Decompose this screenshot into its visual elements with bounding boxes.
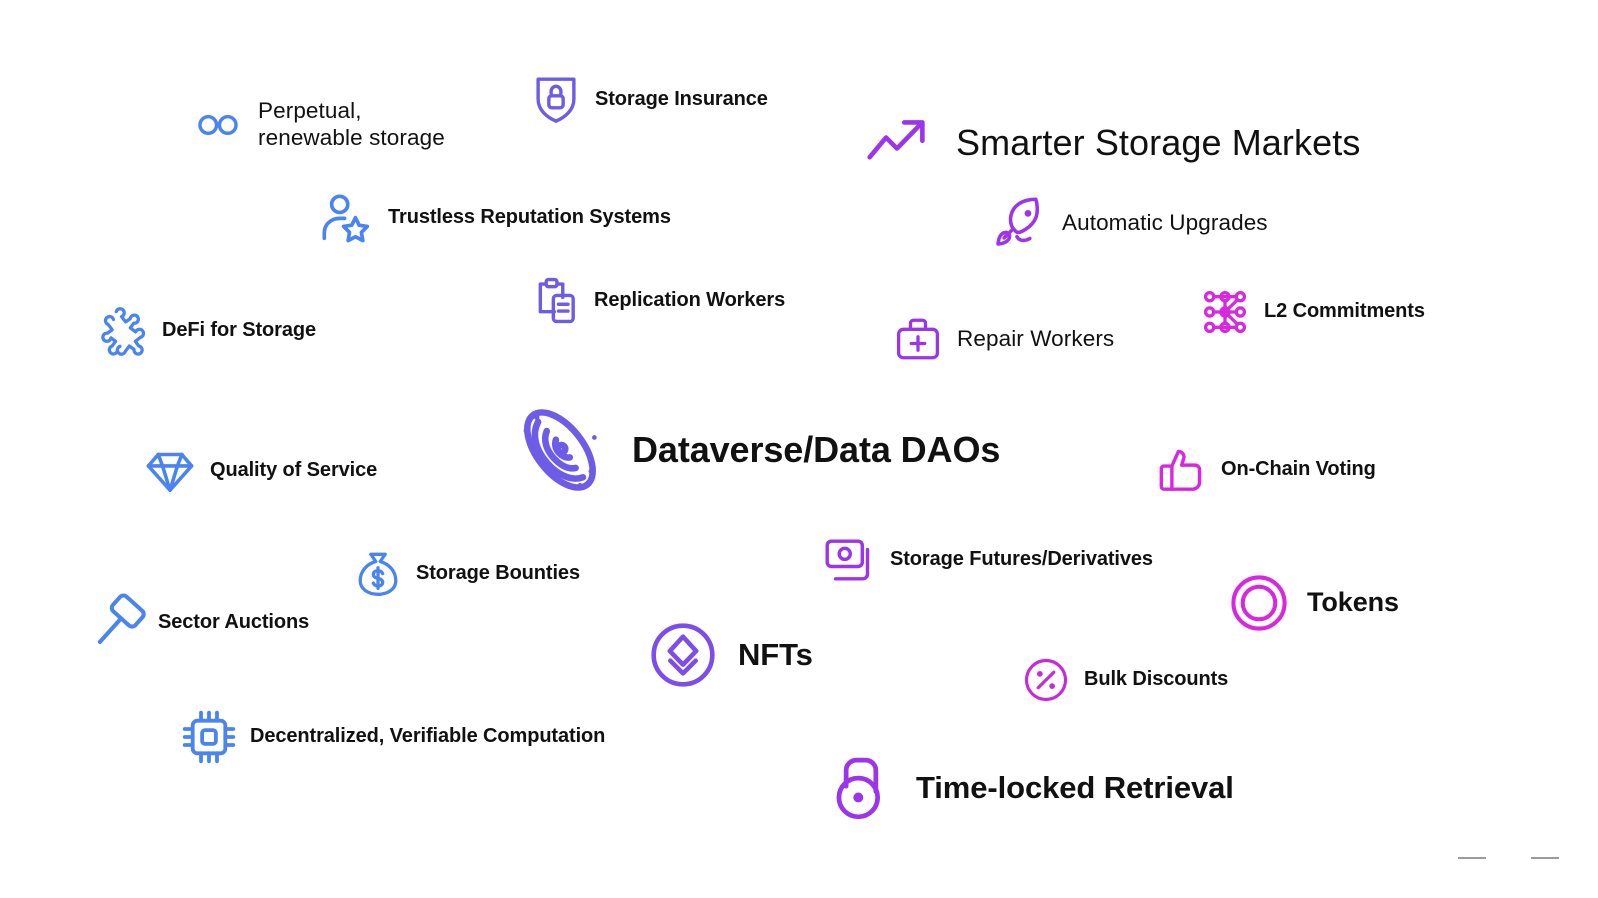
padlock-icon bbox=[825, 752, 897, 824]
concept-item-quality-of-service[interactable]: Quality of Service bbox=[143, 444, 377, 498]
double-ring-icon bbox=[1228, 572, 1290, 634]
concept-item-storage-bounties[interactable]: Storage Bounties bbox=[353, 549, 580, 599]
concept-item-label: Replication Workers bbox=[594, 289, 785, 313]
concept-item-label: Time-locked Retrieval bbox=[916, 770, 1234, 807]
concept-item-label: Sector Auctions bbox=[158, 611, 309, 635]
concept-item-bulk-discounts[interactable]: Bulk Discounts bbox=[1022, 656, 1228, 704]
concept-item-label: Bulk Discounts bbox=[1084, 668, 1228, 692]
concept-item-repair-workers[interactable]: Repair Workers bbox=[893, 314, 1114, 364]
concept-item-label: Automatic Upgrades bbox=[1062, 210, 1268, 237]
percent-circle-icon bbox=[1022, 656, 1070, 704]
concept-item-dataverse-data-daos[interactable]: Dataverse/Data DAOs bbox=[510, 400, 1000, 500]
concept-item-l2-commitments[interactable]: L2 Commitments bbox=[1200, 287, 1425, 337]
concept-item-defi-for-storage[interactable]: DeFi for Storage bbox=[100, 306, 316, 356]
dash-mark bbox=[1458, 857, 1486, 859]
concept-item-storage-futures-derivatives[interactable]: Storage Futures/Derivatives bbox=[822, 534, 1153, 586]
gavel-icon bbox=[86, 592, 148, 654]
concept-item-sector-auctions[interactable]: Sector Auctions bbox=[86, 592, 309, 654]
concept-item-label: Quality of Service bbox=[210, 459, 377, 483]
concept-item-label: On-Chain Voting bbox=[1221, 458, 1376, 482]
trend-up-arrow-icon bbox=[862, 108, 932, 178]
ethereum-coin-icon bbox=[648, 620, 718, 690]
concept-item-label: Storage Bounties bbox=[416, 562, 580, 586]
concept-item-decentralized-verifiable-computation[interactable]: Decentralized, Verifiable Computation bbox=[180, 708, 605, 766]
user-star-icon bbox=[318, 190, 374, 246]
first-aid-kit-icon bbox=[893, 314, 943, 364]
concept-item-label: Tokens bbox=[1307, 587, 1399, 619]
concept-map-canvas: Perpetual, renewable storageStorage Insu… bbox=[0, 0, 1598, 898]
node-grid-icon bbox=[1200, 287, 1250, 337]
concept-item-label: Decentralized, Verifiable Computation bbox=[250, 725, 605, 749]
corner-dash-marks bbox=[1458, 857, 1559, 859]
concept-item-tokens[interactable]: Tokens bbox=[1228, 572, 1399, 634]
concept-item-automatic-upgrades[interactable]: Automatic Upgrades bbox=[992, 196, 1268, 250]
cpu-chip-icon bbox=[180, 708, 238, 766]
concept-item-label: Trustless Reputation Systems bbox=[388, 206, 671, 230]
clipboard-document-icon bbox=[528, 275, 580, 327]
thumbs-up-icon bbox=[1155, 444, 1207, 496]
stacked-cards-icon bbox=[822, 534, 874, 586]
galaxy-spiral-icon bbox=[510, 400, 610, 500]
infinity-icon bbox=[192, 99, 244, 151]
concept-item-label: Perpetual, renewable storage bbox=[258, 98, 445, 151]
diamond-gem-icon bbox=[143, 444, 197, 498]
concept-item-storage-insurance[interactable]: Storage Insurance bbox=[530, 74, 768, 126]
concept-item-label: Dataverse/Data DAOs bbox=[632, 429, 1000, 471]
concept-item-label: L2 Commitments bbox=[1264, 300, 1425, 324]
concept-item-label: DeFi for Storage bbox=[162, 319, 316, 343]
concept-item-label: Storage Insurance bbox=[595, 88, 768, 112]
concept-item-label: Repair Workers bbox=[957, 326, 1114, 353]
dash-mark bbox=[1531, 857, 1559, 859]
concept-item-nfts[interactable]: NFTs bbox=[648, 620, 813, 690]
puzzle-piece-icon bbox=[100, 306, 150, 356]
money-bag-icon bbox=[353, 549, 403, 599]
concept-item-time-locked-retrieval[interactable]: Time-locked Retrieval bbox=[825, 752, 1234, 824]
concept-item-replication-workers[interactable]: Replication Workers bbox=[528, 275, 785, 327]
concept-item-on-chain-voting[interactable]: On-Chain Voting bbox=[1155, 444, 1376, 496]
concept-item-label: Smarter Storage Markets bbox=[956, 122, 1360, 164]
concept-item-perpetual-renewable-storage[interactable]: Perpetual, renewable storage bbox=[192, 98, 445, 151]
concept-item-smarter-storage-markets[interactable]: Smarter Storage Markets bbox=[862, 108, 1360, 178]
concept-item-trustless-reputation-systems[interactable]: Trustless Reputation Systems bbox=[318, 190, 671, 246]
concept-item-label: Storage Futures/Derivatives bbox=[890, 548, 1153, 572]
concept-item-label: NFTs bbox=[738, 637, 813, 674]
shield-lock-icon bbox=[530, 74, 582, 126]
rocket-icon bbox=[992, 196, 1046, 250]
